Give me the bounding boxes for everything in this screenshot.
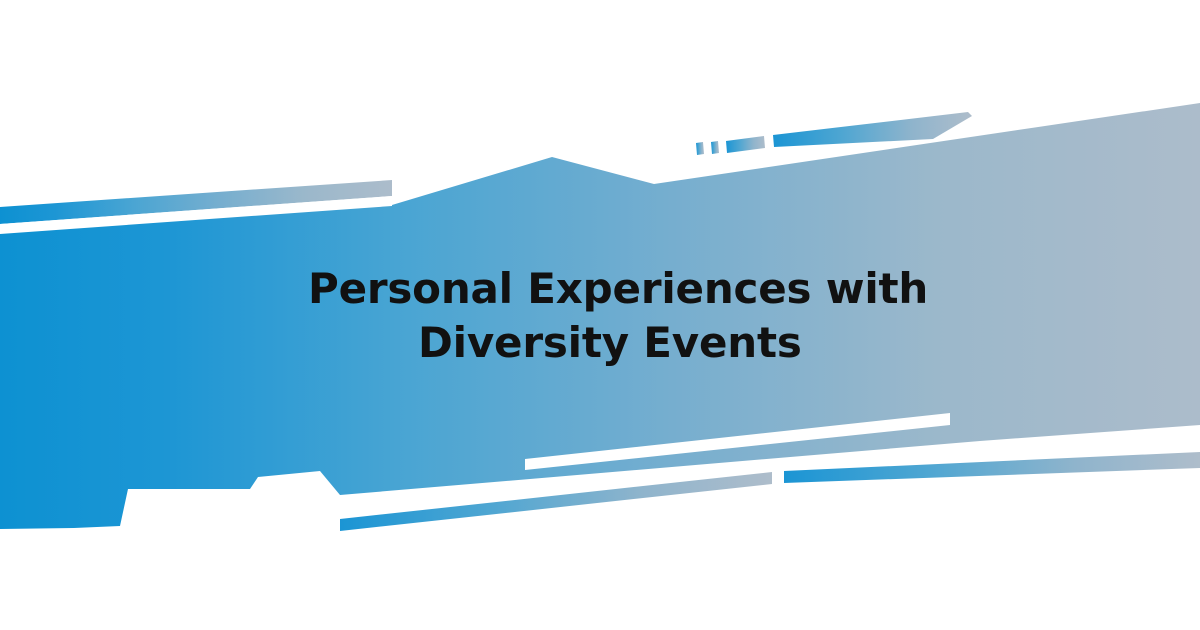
- page-title-line-2: Diversity Events: [300, 316, 920, 370]
- dash-segment-1: [696, 142, 704, 155]
- page-title: Personal Experiences with Diversity Even…: [300, 262, 920, 370]
- lower-band-right: [784, 452, 1200, 483]
- banner-canvas: Personal Experiences with Diversity Even…: [0, 0, 1200, 630]
- dash-segment-2: [711, 141, 719, 154]
- page-title-line-1: Personal Experiences with: [300, 262, 920, 316]
- dash-segment-3: [726, 136, 765, 153]
